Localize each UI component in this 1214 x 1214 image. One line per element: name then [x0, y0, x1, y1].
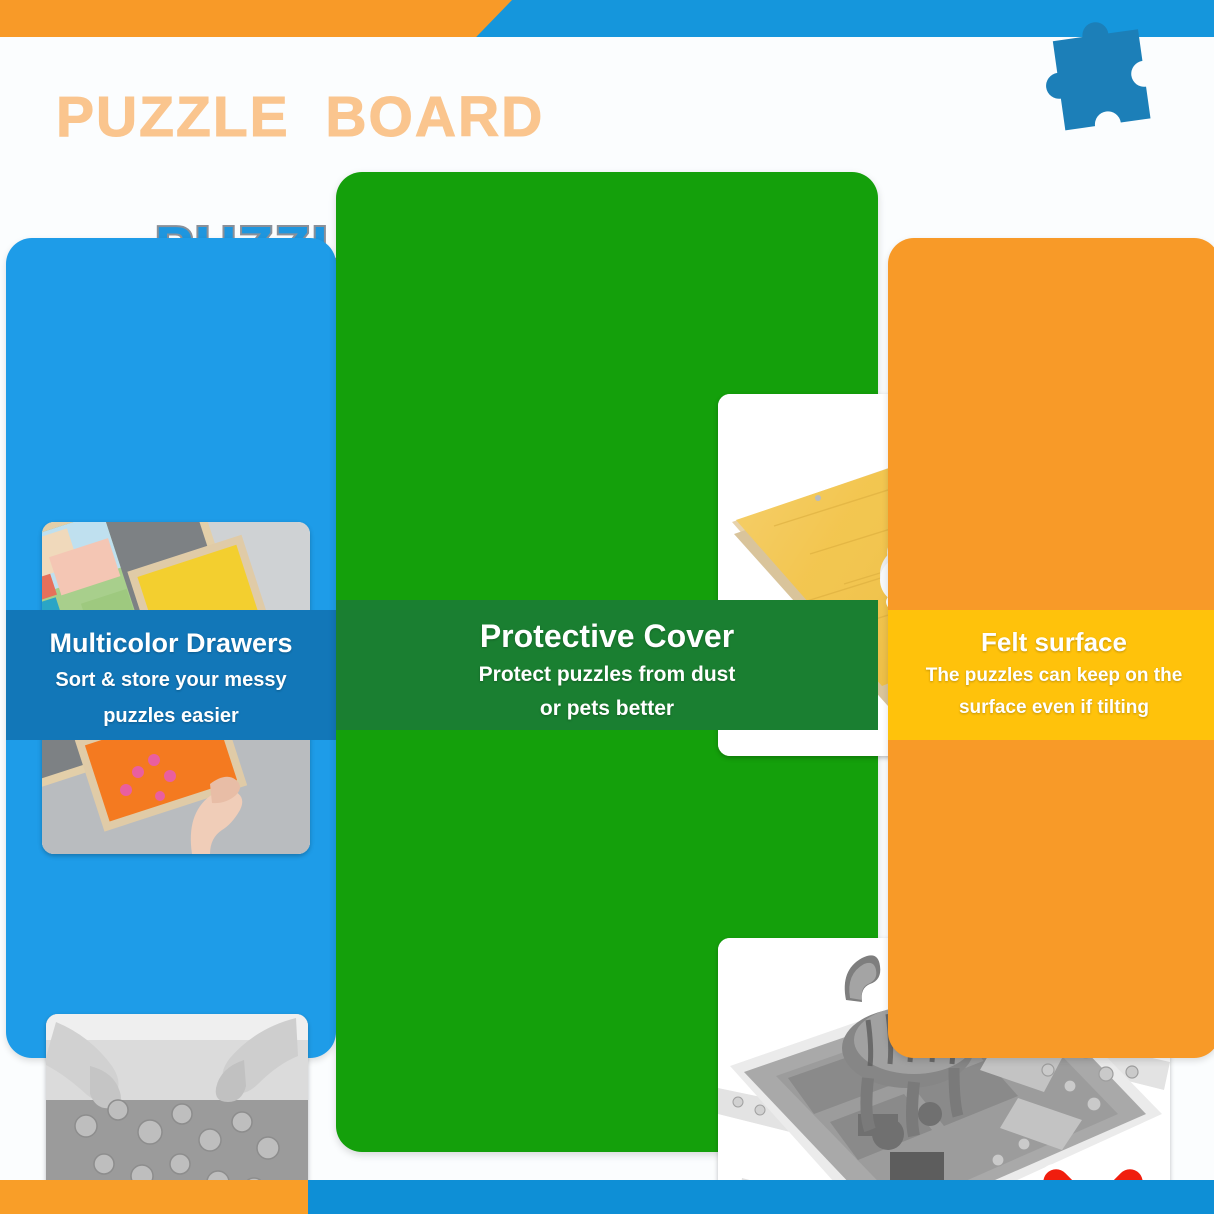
infographic-canvas: PUZZLE BOARD PUZZLE BOARD [0, 0, 1214, 1214]
page-title: PUZZLE BOARD PUZZLE BOARD [48, 72, 643, 142]
caption-subtitle-center-line1: Protect puzzles from dust [336, 658, 878, 692]
feature-panel-multicolor-drawers: Multicolor Drawers Sort & store your mes… [6, 238, 336, 1058]
page-title-shadow: PUZZLE BOARD [56, 82, 544, 152]
puzzle-piece-icon [1024, 18, 1192, 160]
caption-heading-center: Protective Cover [336, 614, 878, 658]
caption-heading-right: Felt surface [888, 624, 1214, 660]
caption-subtitle-right-line2: surface even if tilting [888, 692, 1214, 724]
caption-band-right: Felt surface The puzzles can keep on the… [888, 610, 1214, 740]
top-banner-orange-wedge [0, 0, 512, 37]
caption-band-left: Multicolor Drawers Sort & store your mes… [6, 610, 336, 740]
bottom-banner-bar [0, 1180, 1214, 1214]
caption-subtitle-left-line1: Sort & store your messy [6, 662, 336, 698]
feature-panel-felt-surface: Felt surface The puzzles can keep on the… [888, 238, 1214, 1058]
caption-band-center: Protective Cover Protect puzzles from du… [336, 600, 878, 730]
caption-subtitle-center-line2: or pets better [336, 692, 878, 726]
bottom-banner-orange-block [0, 1180, 308, 1214]
caption-subtitle-right-line1: The puzzles can keep on the [888, 660, 1214, 692]
feature-panel-protective-cover: Protective Cover Protect puzzles from du… [336, 172, 878, 1152]
caption-heading-left: Multicolor Drawers [6, 624, 336, 662]
caption-subtitle-left-line2: puzzles easier [6, 698, 336, 734]
